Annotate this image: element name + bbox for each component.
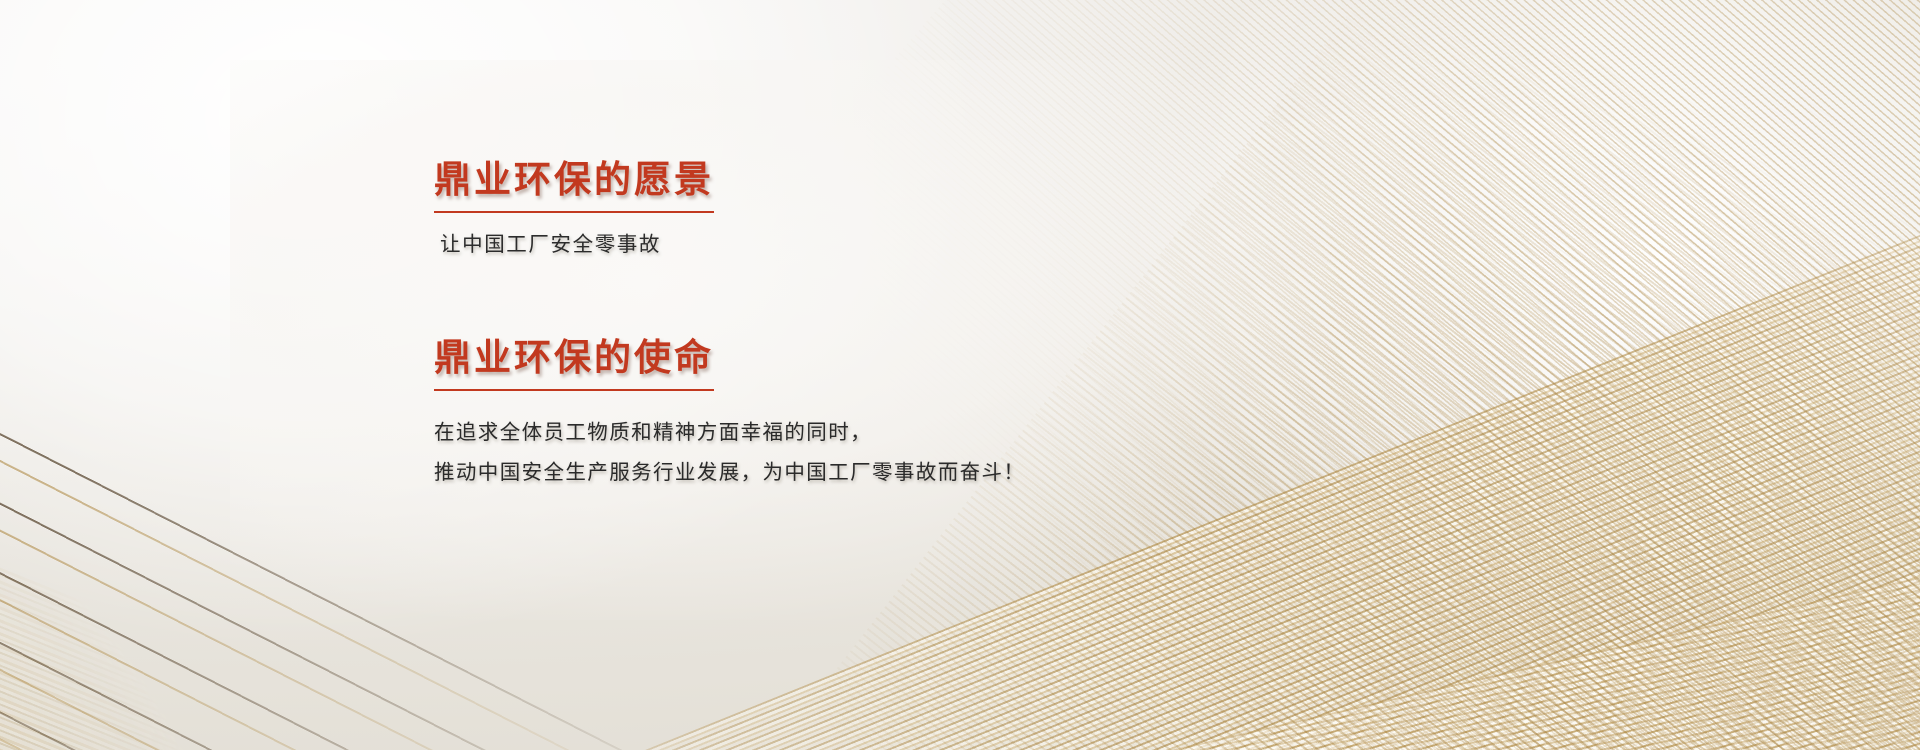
mission-body-line-1: 在追求全体员工物质和精神方面幸福的同时， xyxy=(434,413,1334,453)
mission-body: 在追求全体员工物质和精神方面幸福的同时， 推动中国安全生产服务行业发展，为中国工… xyxy=(434,413,1334,493)
mission-block: 鼎业环保的使命 在追求全体员工物质和精神方面幸福的同时， 推动中国安全生产服务行… xyxy=(434,336,1334,493)
vision-mission-banner: 鼎业环保的愿景 让中国工厂安全零事故 鼎业环保的使命 在追求全体员工物质和精神方… xyxy=(0,0,1920,750)
vision-block: 鼎业环保的愿景 让中国工厂安全零事故 xyxy=(434,158,1334,260)
banner-content: 鼎业环保的愿景 让中国工厂安全零事故 鼎业环保的使命 在追求全体员工物质和精神方… xyxy=(434,158,1334,493)
mission-heading: 鼎业环保的使命 xyxy=(434,336,714,391)
mission-body-line-2: 推动中国安全生产服务行业发展，为中国工厂零事故而奋斗！ xyxy=(434,453,1334,493)
vision-heading: 鼎业环保的愿景 xyxy=(434,158,714,213)
gold-ribbon-fan-bottom-right-secondary-icon xyxy=(780,503,1920,750)
vision-subtitle: 让中国工厂安全零事故 xyxy=(440,230,1334,261)
